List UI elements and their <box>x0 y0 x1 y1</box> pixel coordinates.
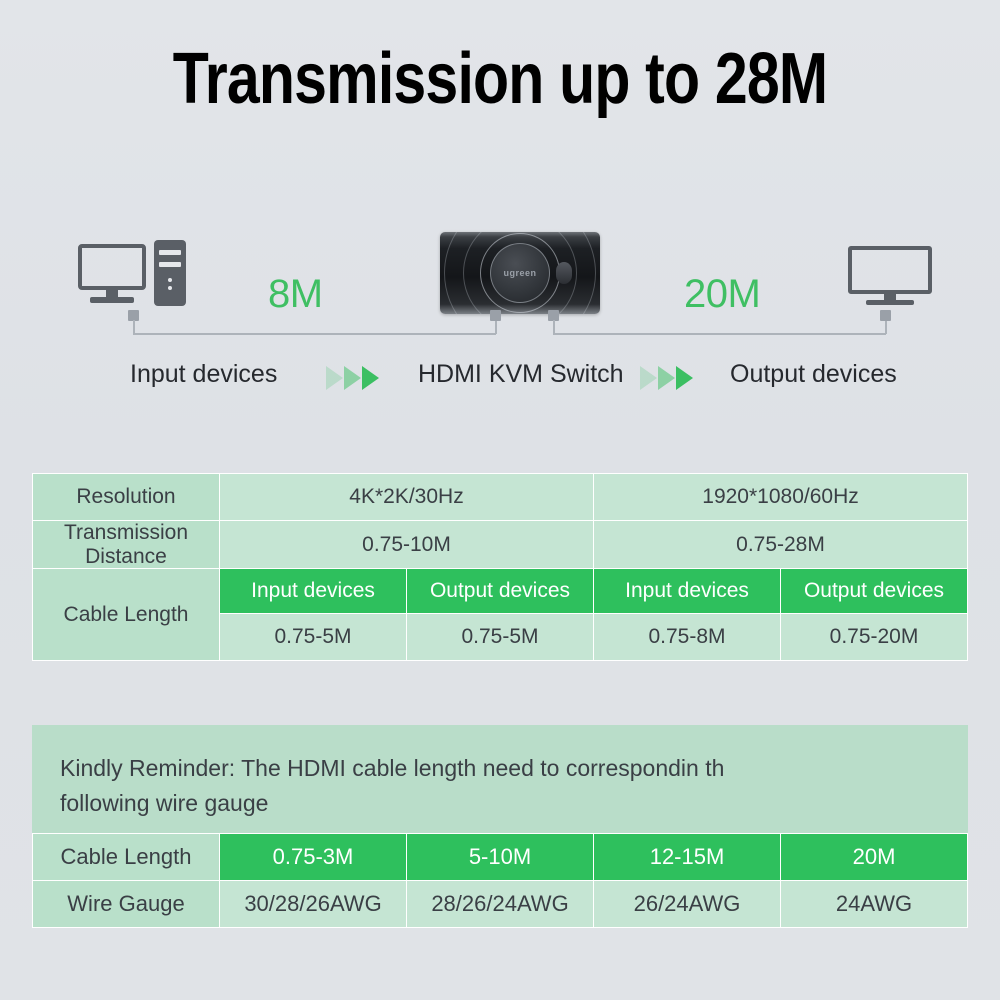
output-device-icon-group <box>848 246 932 310</box>
tower-indicator-dot-icon <box>168 278 172 282</box>
cable-segment <box>133 333 496 335</box>
cable-segment <box>553 320 555 334</box>
tv-monitor-icon <box>848 246 932 294</box>
cell-cable-length-1: 0.75-5M <box>220 614 407 661</box>
cell-distance-right: 0.75-28M <box>594 521 968 569</box>
row-label-line2: Distance <box>33 545 219 569</box>
tv-stand-base-icon <box>866 300 914 305</box>
cell-gauge-length-2: 5-10M <box>407 834 594 881</box>
cell-gauge-length-3: 12-15M <box>594 834 781 881</box>
cell-resolution-right: 1920*1080/60Hz <box>594 474 968 521</box>
row-label-transmission-distance: Transmission Distance <box>33 521 220 569</box>
flow-arrow-icon <box>640 366 710 390</box>
subheader-input-devices-1: Input devices <box>220 569 407 614</box>
brand-logo: ugreen <box>503 268 536 278</box>
flow-arrow-icon <box>326 366 396 390</box>
table-row-cable-length-headers: Cable Length Input devices Output device… <box>33 569 968 614</box>
subheader-output-devices-1: Output devices <box>407 569 594 614</box>
cell-wire-gauge-2: 28/26/24AWG <box>407 881 594 928</box>
specification-table: Resolution 4K*2K/30Hz 1920*1080/60Hz Tra… <box>32 473 968 661</box>
pc-tower-icon <box>154 240 186 306</box>
cell-cable-length-3: 0.75-8M <box>594 614 781 661</box>
chevron-right-icon <box>640 366 657 390</box>
cable-connector-icon <box>880 310 891 321</box>
cell-wire-gauge-1: 30/28/26AWG <box>220 881 407 928</box>
cell-wire-gauge-3: 26/24AWG <box>594 881 781 928</box>
row-label-cable-length: Cable Length <box>33 834 220 881</box>
kvm-switch-device-image: ugreen <box>440 232 600 314</box>
input-devices-icon-group <box>78 238 198 310</box>
tower-indicator-dot-icon <box>168 286 172 290</box>
chevron-right-icon <box>676 366 693 390</box>
output-distance-label: 20M <box>684 272 760 317</box>
table-row-resolution: Resolution 4K*2K/30Hz 1920*1080/60Hz <box>33 474 968 521</box>
wire-gauge-table: Cable Length 0.75-3M 5-10M 12-15M 20M Wi… <box>32 833 968 928</box>
cable-segment <box>133 320 135 334</box>
reminder-line2: following wire gauge <box>60 786 968 821</box>
chevron-right-icon <box>344 366 361 390</box>
chevron-right-icon <box>658 366 675 390</box>
row-label-cable-length: Cable Length <box>33 569 220 661</box>
chevron-right-icon <box>362 366 379 390</box>
row-label-line1: Transmission <box>33 521 219 545</box>
cable-segment <box>553 333 886 335</box>
row-label-resolution: Resolution <box>33 474 220 521</box>
table-row-transmission-distance: Transmission Distance 0.75-10M 0.75-28M <box>33 521 968 569</box>
table-row-wire-gauge: Wire Gauge 30/28/26AWG 28/26/24AWG 26/24… <box>33 881 968 928</box>
cable-connector-icon <box>490 310 501 321</box>
cell-cable-length-4: 0.75-20M <box>781 614 968 661</box>
kindly-reminder-note: Kindly Reminder: The HDMI cable length n… <box>32 725 968 833</box>
caption-kvm-switch: HDMI KVM Switch <box>418 360 624 389</box>
cell-cable-length-2: 0.75-5M <box>407 614 594 661</box>
caption-input-devices: Input devices <box>130 360 277 389</box>
monitor-icon <box>78 244 146 290</box>
table-row-cable-length: Cable Length 0.75-3M 5-10M 12-15M 20M <box>33 834 968 881</box>
subheader-input-devices-2: Input devices <box>594 569 781 614</box>
cell-gauge-length-4: 20M <box>781 834 968 881</box>
reminder-line1: Kindly Reminder: The HDMI cable length n… <box>60 751 968 786</box>
caption-output-devices: Output devices <box>730 360 897 389</box>
cell-distance-left: 0.75-10M <box>220 521 594 569</box>
page-title: Transmission up to 28M <box>90 38 910 120</box>
cable-segment <box>495 320 497 334</box>
cell-resolution-left: 4K*2K/30Hz <box>220 474 594 521</box>
cell-wire-gauge-4: 24AWG <box>781 881 968 928</box>
tower-drive-slot-icon <box>159 262 181 267</box>
tower-drive-slot-icon <box>159 250 181 255</box>
monitor-stand-base-icon <box>90 297 134 303</box>
row-label-wire-gauge: Wire Gauge <box>33 881 220 928</box>
cell-gauge-length-1: 0.75-3M <box>220 834 407 881</box>
diagram-captions-row: Input devices HDMI KVM Switch Output dev… <box>0 358 1000 398</box>
chevron-right-icon <box>326 366 343 390</box>
input-distance-label: 8M <box>268 272 323 317</box>
subheader-output-devices-2: Output devices <box>781 569 968 614</box>
device-knob-icon <box>556 262 572 284</box>
cable-segment <box>885 320 887 334</box>
